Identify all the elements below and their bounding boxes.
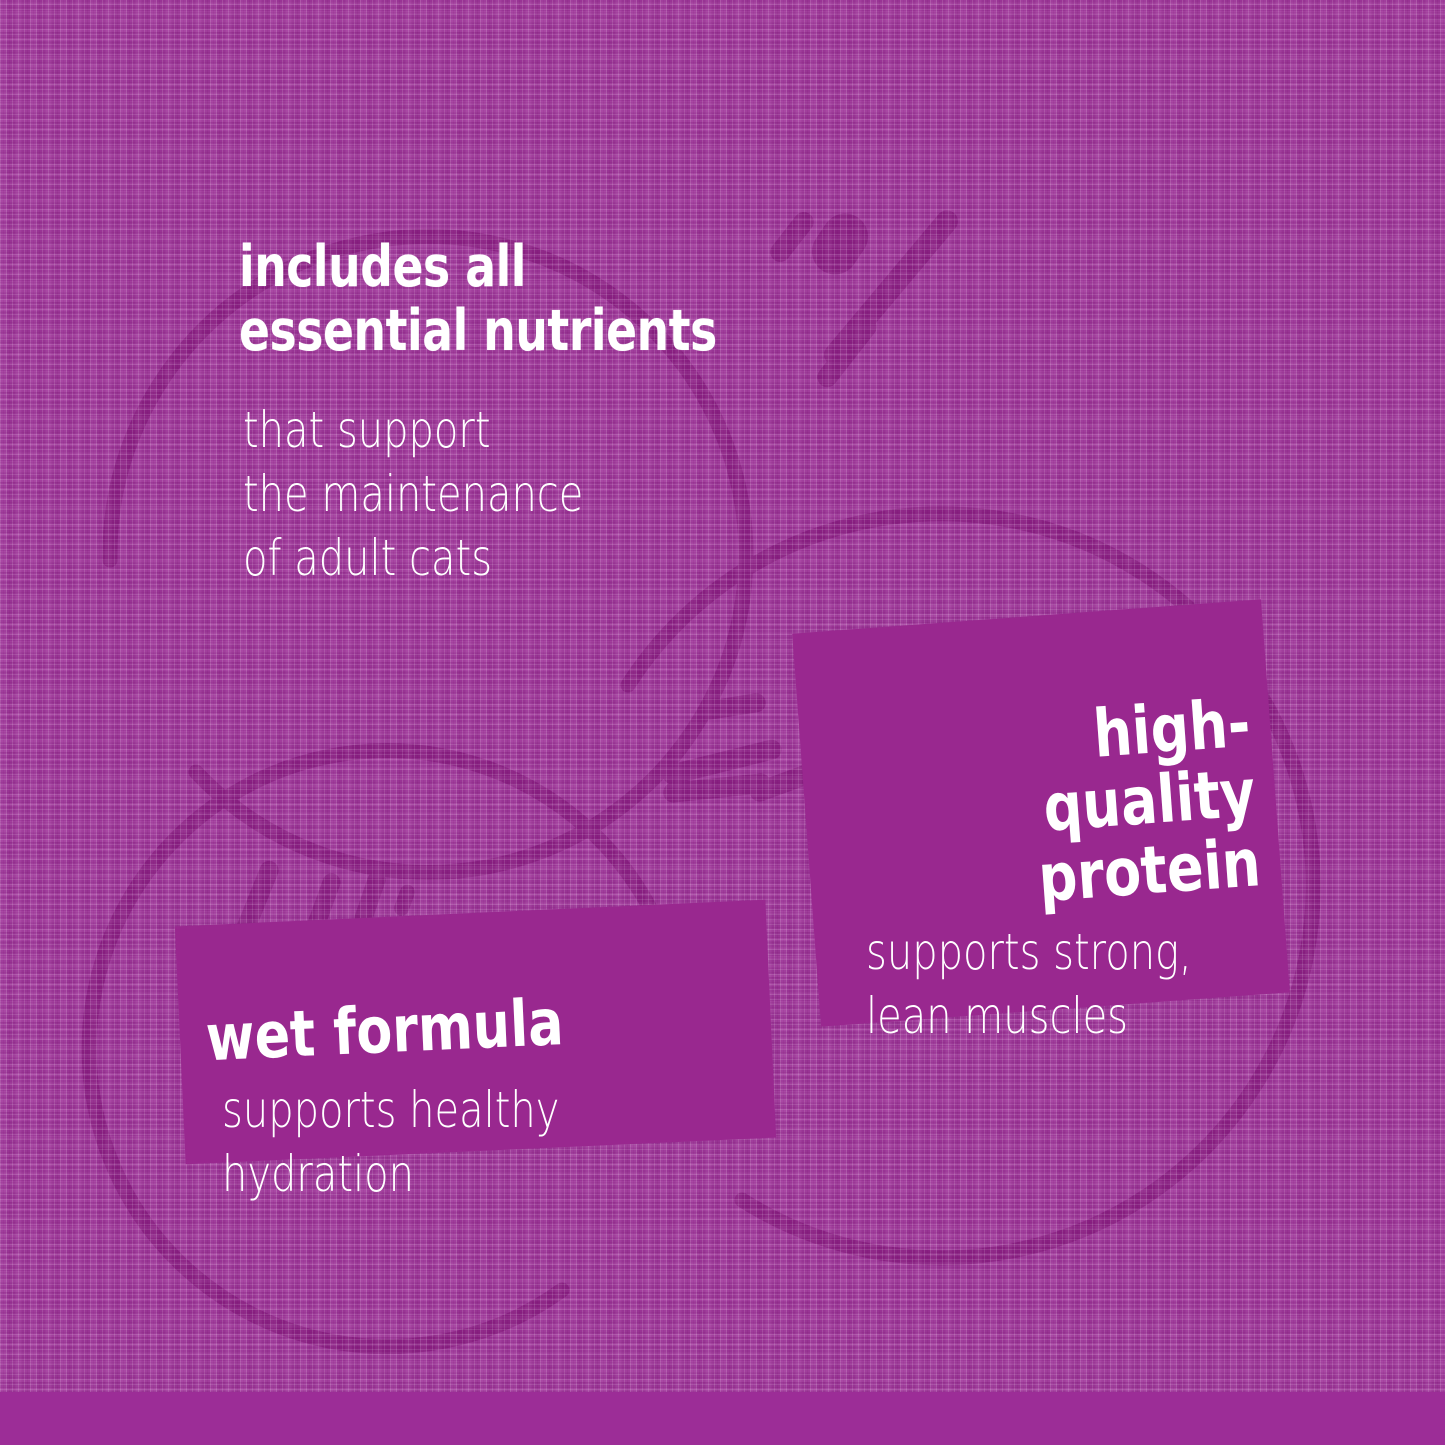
badge-label: wet formula [205,986,654,1073]
benefit-panel: includes all essential nutrients that su… [0,0,1445,1445]
benefit-wet-formula-body: supports healthy hydration [222,1078,644,1206]
benefit-body: supports healthy hydration [222,1078,559,1206]
bottom-accent-bar [0,1392,1445,1445]
benefit-protein-body: supports strong, lean muscles [866,920,1273,1048]
benefit-essential-nutrients: includes all essential nutrients [239,236,836,364]
benefit-body: that support the maintenance of adult ca… [243,398,583,590]
sparkle-mark [392,883,417,918]
benefit-essential-nutrients-body: that support the maintenance of adult ca… [243,398,669,590]
benefit-headline: includes all essential nutrients [239,236,717,364]
benefit-body: supports strong, lean muscles [866,920,1192,1048]
badge-label: high-quality protein [896,688,1263,923]
